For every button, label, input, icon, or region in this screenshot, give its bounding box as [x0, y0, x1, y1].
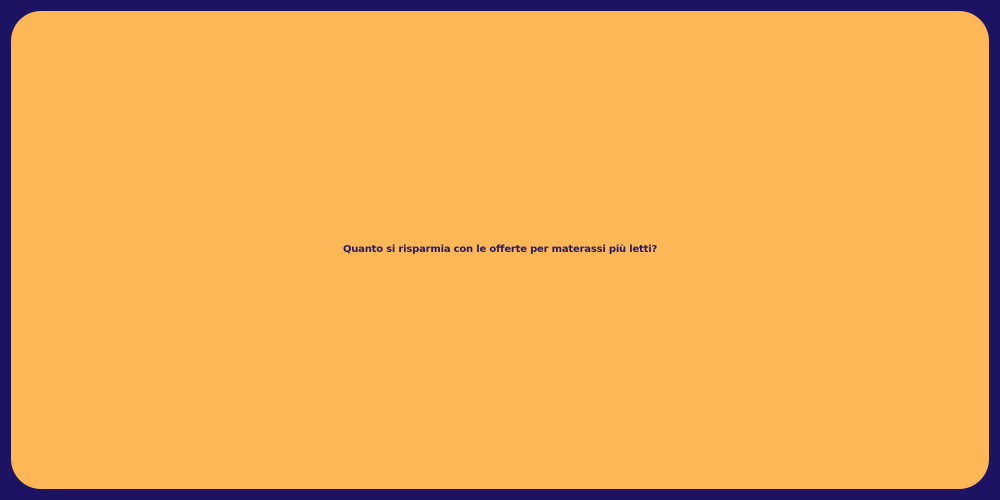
banner-card: Quanto si risparmia con le offerte per m…: [11, 11, 989, 489]
banner-headline: Quanto si risparmia con le offerte per m…: [60, 244, 940, 257]
banner-frame: Quanto si risparmia con le offerte per m…: [0, 0, 1000, 500]
